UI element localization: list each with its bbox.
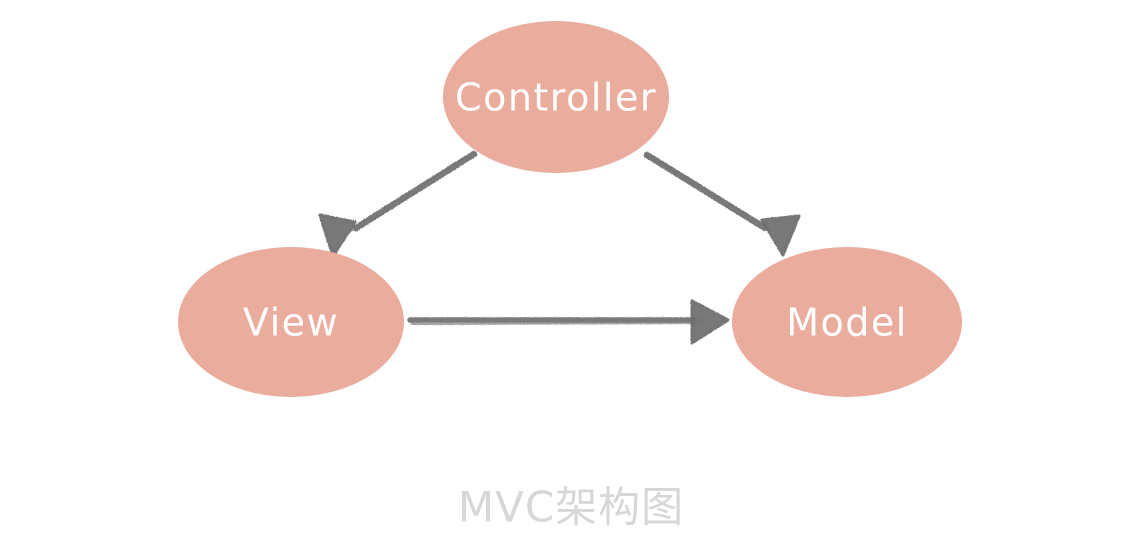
node-controller[interactable]: Controller (443, 21, 669, 173)
diagram-canvas: Controller View Model MVC架构图 (0, 0, 1142, 557)
view-label: View (243, 301, 339, 345)
edge-controller-to-view (320, 154, 474, 256)
edge-controller-to-model (647, 155, 799, 255)
model-label: Model (786, 301, 908, 345)
mvc-diagram: Controller View Model MVC架构图 (0, 0, 1142, 557)
node-view[interactable]: View (178, 247, 404, 397)
edge-view-to-model (410, 301, 728, 343)
node-model[interactable]: Model (732, 247, 962, 397)
controller-label: Controller (455, 76, 657, 120)
diagram-caption: MVC架构图 (458, 483, 684, 532)
